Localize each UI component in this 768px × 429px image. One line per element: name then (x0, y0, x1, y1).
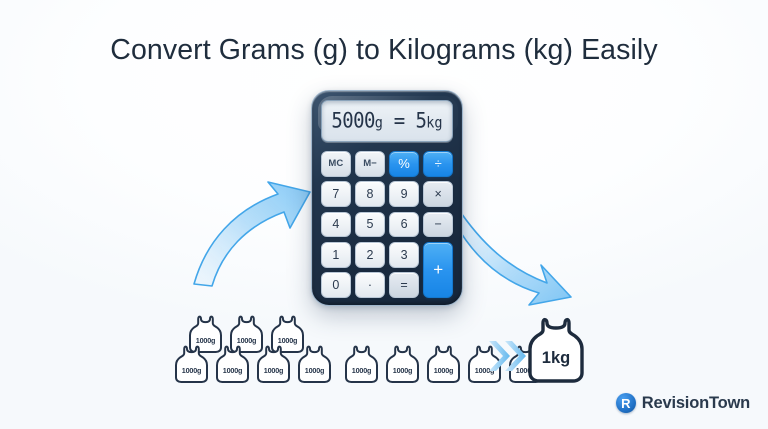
gram-weight-label: 1000g (213, 366, 252, 375)
display-value: 5000 (331, 109, 374, 134)
gram-weight-label: 1000g (383, 366, 422, 375)
gram-weight-label: 1000g (295, 366, 334, 375)
calc-key-9[interactable]: 9 (389, 181, 419, 207)
curved-arrow-up-right-icon (186, 176, 316, 288)
calc-key-7[interactable]: 7 (321, 181, 351, 207)
calculator[interactable]: 5000g = 5kg MCM−%÷789×456−123+0·= (311, 90, 463, 306)
calc-key-5[interactable]: 5 (355, 212, 385, 238)
calc-key-mminus[interactable]: M− (355, 151, 385, 177)
logo-text: RevisionTown (642, 394, 750, 413)
calc-key-2[interactable]: 2 (355, 242, 385, 268)
calc-key-mc[interactable]: MC (321, 151, 351, 177)
calc-key-decimal[interactable]: · (355, 272, 385, 298)
calc-key-1[interactable]: 1 (321, 242, 351, 268)
calc-key-percent[interactable]: % (389, 151, 419, 177)
calculator-display: 5000g = 5kg (321, 100, 453, 142)
kilogram-weight-label: 1kg (523, 349, 589, 368)
calc-key-plus[interactable]: + (423, 242, 453, 298)
gram-weight-label: 1000g (424, 366, 463, 375)
display-equals: = (394, 109, 405, 134)
kilogram-weight: 1kg (523, 316, 589, 386)
display-result: 5 (415, 109, 426, 134)
logo-badge-icon: R (616, 393, 636, 413)
curved-arrow-down-right-icon (455, 205, 580, 310)
calc-key-0[interactable]: 0 (321, 272, 351, 298)
calc-key-divide[interactable]: ÷ (423, 151, 453, 177)
calc-key-multiply[interactable]: × (423, 181, 453, 207)
poster-canvas: Convert Grams (g) to Kilograms (kg) Easi… (0, 0, 768, 429)
calc-key-8[interactable]: 8 (355, 181, 385, 207)
calc-key-3[interactable]: 3 (389, 242, 419, 268)
display-unit-to: kg (426, 114, 442, 132)
gram-weight-block: 1000g (342, 344, 381, 384)
gram-weight-block: 1000g (254, 344, 293, 384)
gram-weight-label: 1000g (342, 366, 381, 375)
gram-weight-block: 1000g (172, 344, 211, 384)
gram-weight-block: 1000g (295, 344, 334, 384)
gram-weight-block: 1000g (213, 344, 252, 384)
calculator-keypad[interactable]: MCM−%÷789×456−123+0·= (321, 151, 453, 298)
display-unit-from: g (375, 114, 383, 132)
calc-key-4[interactable]: 4 (321, 212, 351, 238)
calc-key-minus[interactable]: − (423, 212, 453, 238)
gram-weight-label: 1000g (254, 366, 293, 375)
page-title: Convert Grams (g) to Kilograms (kg) Easi… (0, 34, 768, 67)
calc-key-6[interactable]: 6 (389, 212, 419, 238)
revisiontown-logo[interactable]: R RevisionTown (616, 393, 750, 413)
gram-weight-block: 1000g (424, 344, 463, 384)
calculator-display-text: 5000g = 5kg (331, 109, 442, 134)
gram-weight-block: 1000g (383, 344, 422, 384)
gram-weight-label: 1000g (172, 366, 211, 375)
calc-key-equals[interactable]: = (389, 272, 419, 298)
